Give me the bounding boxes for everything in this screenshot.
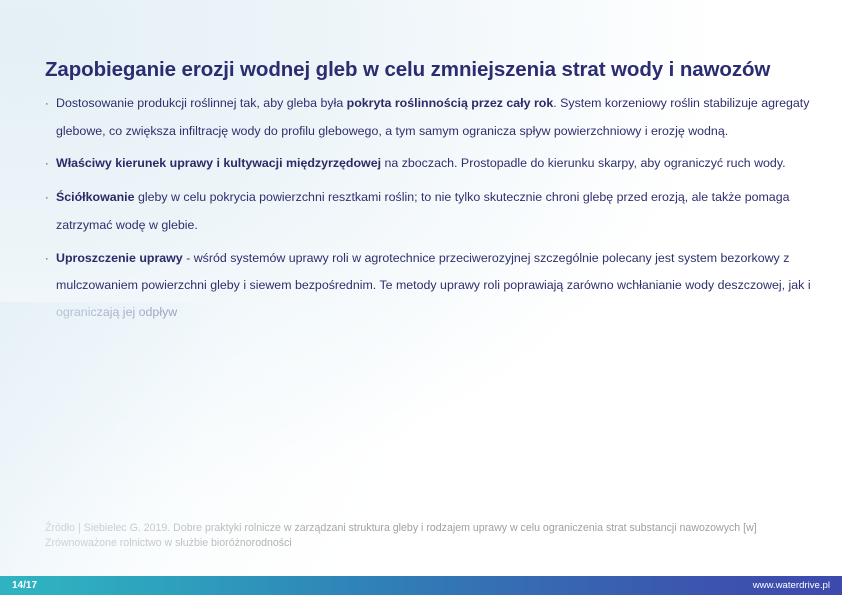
bullet-marker: · bbox=[45, 91, 56, 118]
list-item: ·Ściółkowanie gleby w celu pokrycia powi… bbox=[45, 184, 815, 238]
bullet-list: ·Dostosowanie produkcji roślinnej tak, a… bbox=[45, 90, 815, 326]
page-number: 14/17 bbox=[12, 576, 37, 595]
source-citation: Źródło | Siebielec G. 2019. Dobre prakty… bbox=[45, 521, 790, 552]
bullet-emphasis: Uproszczenie uprawy bbox=[56, 251, 183, 265]
bullet-marker: · bbox=[45, 185, 56, 212]
bullet-rest-text: gleby w celu pokrycia powierzchni resztk… bbox=[56, 190, 789, 232]
website-url[interactable]: www.waterdrive.pl bbox=[753, 576, 830, 595]
bullet-marker: · bbox=[45, 246, 56, 273]
bullet-emphasis: Ściółkowanie bbox=[56, 190, 135, 204]
bullet-marker: · bbox=[45, 151, 56, 178]
list-item: ·Właściwy kierunek uprawy i kultywacji m… bbox=[45, 150, 815, 178]
bullet-emphasis: Właściwy kierunek uprawy i kultywacji mi… bbox=[56, 156, 381, 170]
list-item: ·Dostosowanie produkcji roślinnej tak, a… bbox=[45, 90, 815, 144]
slide-canvas: Zapobieganie erozji wodnej gleb w celu z… bbox=[0, 0, 842, 595]
bullet-lead-text: Dostosowanie produkcji roślinnej tak, ab… bbox=[56, 96, 347, 110]
footer-bar: 14/17 www.waterdrive.pl bbox=[0, 576, 842, 595]
list-item: ·Uproszczenie uprawy - wśród systemów up… bbox=[45, 245, 815, 326]
bullet-rest-text: na zboczach. Prostopadle do kierunku ska… bbox=[381, 156, 786, 170]
bullet-emphasis: pokryta roślinnością przez cały rok bbox=[347, 96, 554, 110]
page-title: Zapobieganie erozji wodnej gleb w celu z… bbox=[45, 58, 805, 83]
